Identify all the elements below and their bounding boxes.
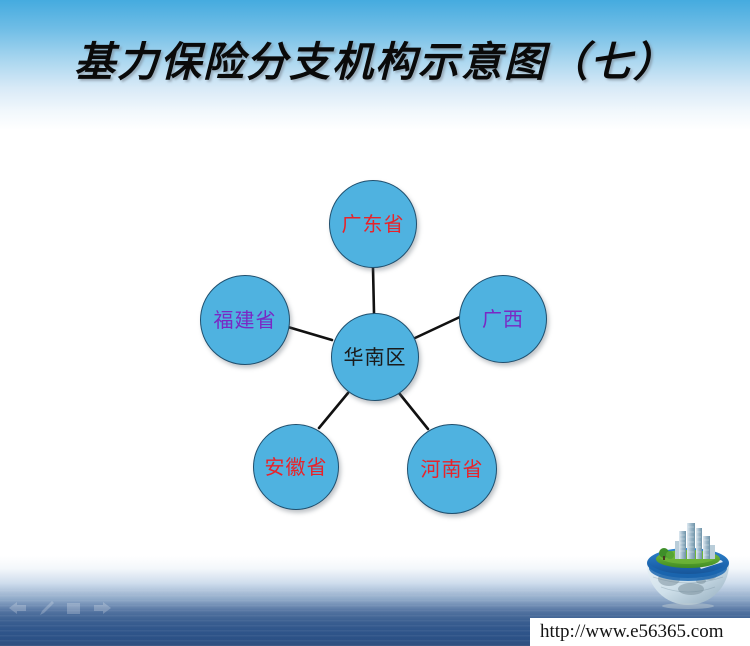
edge-center-anhui xyxy=(319,393,348,428)
watermark-url-text: http://www.e56365.com xyxy=(540,621,723,643)
edge-center-fujian xyxy=(288,327,332,340)
globe-city-icon xyxy=(639,519,737,611)
watermark-url-box: http://www.e56365.com xyxy=(530,618,750,646)
node-guangxi-label: 广西 xyxy=(482,309,524,329)
org-diagram: 福建省 广东省 广西 安徽省 河南省 华南区 xyxy=(0,0,750,646)
node-anhui[interactable]: 安徽省 xyxy=(253,424,339,510)
center-node[interactable]: 华南区 xyxy=(331,313,419,401)
node-fujian[interactable]: 福建省 xyxy=(200,275,290,365)
edge-center-guangdong xyxy=(373,268,374,313)
center-node-label: 华南区 xyxy=(344,347,407,367)
node-fujian-label: 福建省 xyxy=(214,310,277,330)
slide-canvas: 基力保险分支机构示意图（七） 福建省 广东省 广西 安徽省 河南省 xyxy=(0,0,750,646)
node-guangxi[interactable]: 广西 xyxy=(459,275,547,363)
node-henan[interactable]: 河南省 xyxy=(407,424,497,514)
node-henan-label: 河南省 xyxy=(421,459,484,479)
edge-center-henan xyxy=(399,393,428,429)
node-guangdong-label: 广东省 xyxy=(342,214,405,234)
node-guangdong[interactable]: 广东省 xyxy=(329,180,417,268)
node-anhui-label: 安徽省 xyxy=(265,457,328,477)
edge-center-guangxi xyxy=(415,316,462,338)
